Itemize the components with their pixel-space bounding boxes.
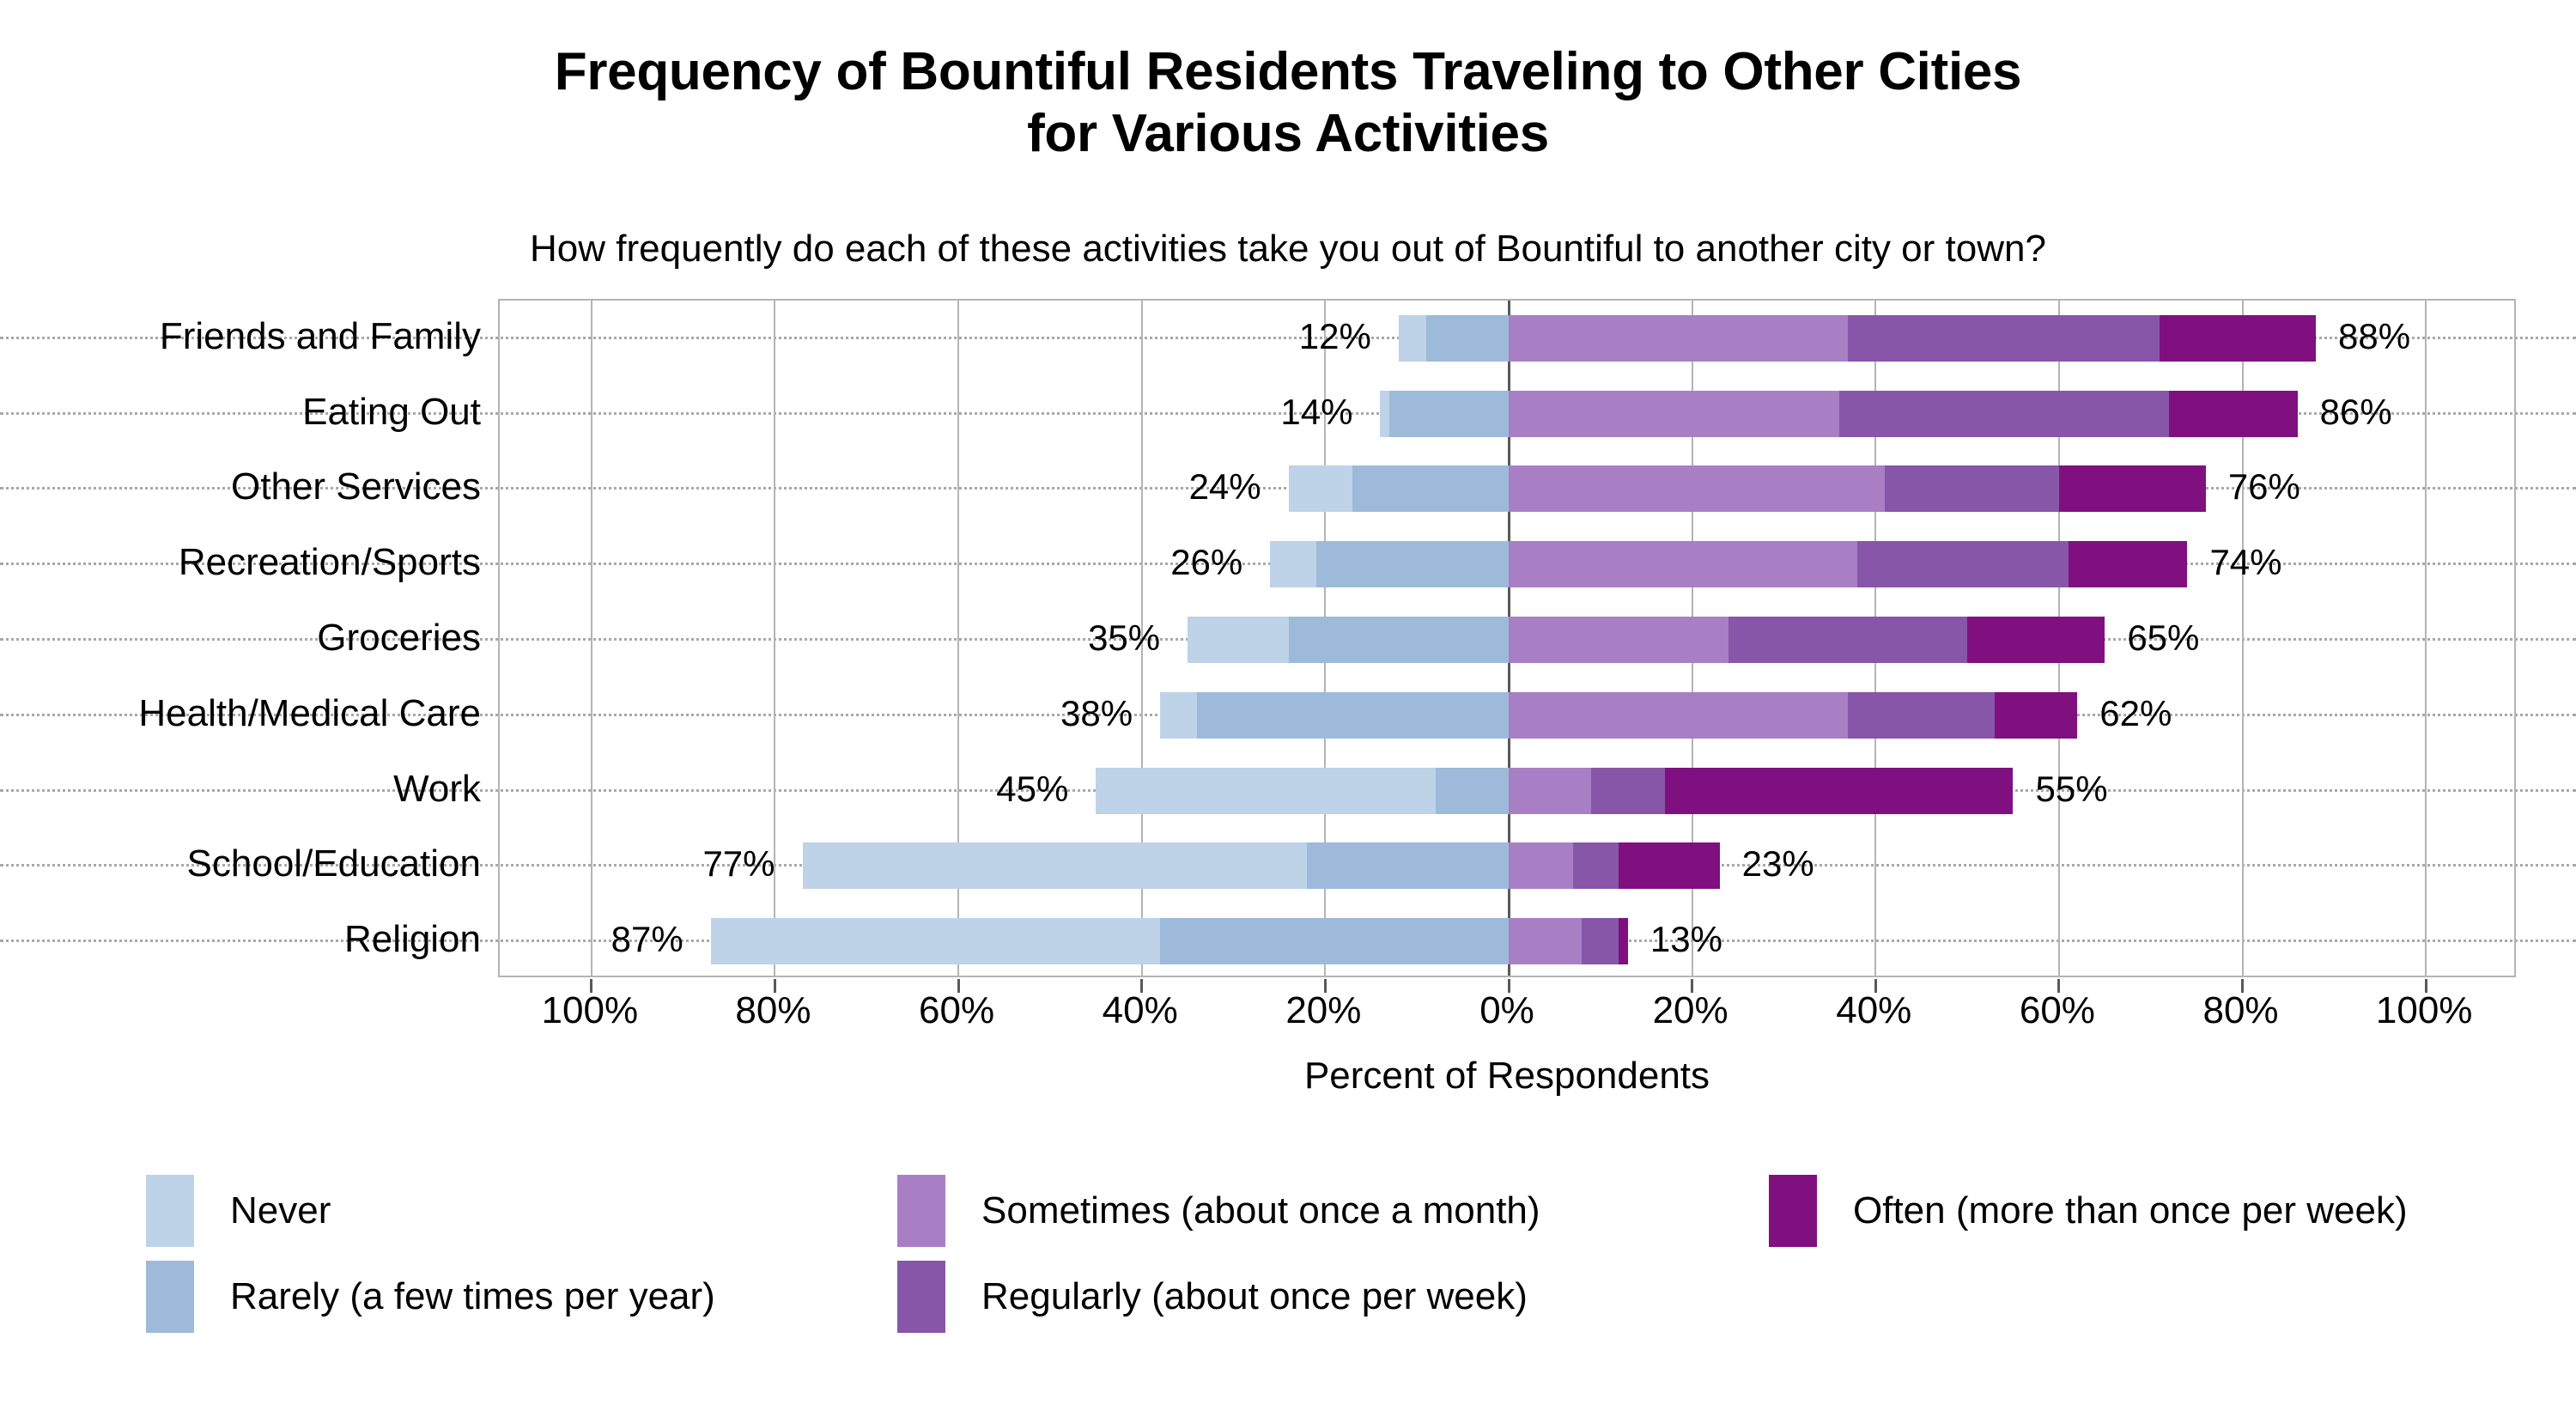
bar-segment-regularly — [1857, 541, 2069, 587]
chart-root: Frequency of Bountiful Residents Traveli… — [0, 0, 2576, 1417]
bar-label-right-total: 23% — [1742, 843, 1814, 885]
bar-segment-regularly — [1591, 768, 1664, 814]
bar-label-left-total: 45% — [996, 769, 1068, 810]
bar-segment-rarely — [1197, 692, 1509, 739]
category-label: Recreation/Sports — [179, 541, 481, 584]
legend-label: Never — [230, 1189, 331, 1232]
plot-area — [498, 299, 2516, 977]
legend-swatch — [897, 1175, 945, 1247]
bar-segment-regularly — [1839, 391, 2170, 437]
bar-label-right-total: 88% — [2338, 316, 2410, 357]
bar-label-left-total: 38% — [1060, 693, 1133, 734]
bar-segment-never — [803, 842, 1308, 889]
x-axis-title: Percent of Respondents — [498, 1055, 2516, 1098]
bar-segment-often — [2169, 391, 2298, 437]
bar-label-right-total: 86% — [2320, 392, 2392, 433]
legend-item[interactable]: Regularly (about once per week) — [897, 1261, 1528, 1333]
bar-segment-often — [1995, 692, 2077, 739]
category-label: Religion — [344, 918, 481, 961]
category-label: Friends and Family — [160, 315, 481, 358]
category-label: Groceries — [317, 617, 481, 660]
bar-segment-sometimes — [1509, 768, 1591, 814]
bar-label-left-total: 35% — [1088, 617, 1160, 659]
x-axis-tick-label: 80% — [735, 989, 811, 1032]
bar-segment-sometimes — [1509, 842, 1573, 889]
bar-label-left-total: 14% — [1280, 392, 1352, 433]
bar-segment-rarely — [1307, 842, 1509, 889]
legend-swatch — [1769, 1175, 1817, 1247]
chart-title-line-2: for Various Activities — [0, 103, 2576, 165]
bar-label-left-total: 12% — [1299, 316, 1371, 357]
category-label: School/Education — [187, 842, 481, 885]
bar-segment-never — [1270, 541, 1315, 587]
legend-label: Regularly (about once per week) — [981, 1275, 1528, 1318]
bar-segment-often — [2059, 465, 2206, 512]
bar-segment-rarely — [1352, 465, 1509, 512]
legend-swatch — [146, 1175, 194, 1247]
bar-label-left-total: 87% — [611, 919, 683, 960]
bar-label-right-total: 62% — [2099, 693, 2172, 734]
bar-segment-often — [1619, 918, 1628, 964]
bar-segment-regularly — [1582, 918, 1619, 964]
category-label: Other Services — [231, 465, 481, 508]
bar-segment-often — [2160, 315, 2316, 362]
bar-segment-regularly — [1848, 315, 2160, 362]
x-axis-tick-label: 60% — [919, 989, 994, 1032]
legend-item[interactable]: Never — [146, 1175, 331, 1247]
x-axis-tick-label: 0% — [1479, 989, 1534, 1032]
x-axis-tick-label: 100% — [542, 989, 639, 1032]
category-label: Health/Medical Care — [138, 692, 481, 735]
legend-swatch — [897, 1261, 945, 1333]
bar-segment-rarely — [1436, 768, 1509, 814]
bar-segment-sometimes — [1509, 692, 1848, 739]
bar-segment-often — [2069, 541, 2188, 587]
bar-segment-sometimes — [1509, 541, 1857, 587]
bar-segment-sometimes — [1509, 918, 1582, 964]
x-axis-tick-label: 60% — [2020, 989, 2095, 1032]
bar-segment-rarely — [1389, 391, 1509, 437]
bar-segment-sometimes — [1509, 465, 1885, 512]
legend-label: Rarely (a few times per year) — [230, 1275, 715, 1318]
x-axis-tick-label: 20% — [1285, 989, 1361, 1032]
bar-label-left-total: 24% — [1189, 466, 1261, 508]
bar-segment-never — [711, 918, 1160, 964]
bar-segment-never — [1160, 692, 1197, 739]
legend-item[interactable]: Rarely (a few times per year) — [146, 1261, 715, 1333]
x-axis-tick-label: 20% — [1653, 989, 1728, 1032]
bar-segment-often — [1619, 842, 1720, 889]
legend-swatch — [146, 1261, 194, 1333]
category-label: Work — [393, 768, 481, 811]
bar-segment-regularly — [1573, 842, 1619, 889]
bar-segment-never — [1096, 768, 1435, 814]
bar-segment-never — [1188, 617, 1289, 663]
bar-segment-rarely — [1289, 617, 1509, 663]
bar-label-left-total: 77% — [702, 843, 775, 885]
bar-segment-often — [1665, 768, 2014, 814]
bar-label-left-total: 26% — [1170, 542, 1242, 583]
category-label: Eating Out — [302, 391, 481, 434]
bar-label-right-total: 13% — [1650, 919, 1722, 960]
bar-segment-sometimes — [1509, 391, 1839, 437]
bar-segment-regularly — [1885, 465, 2059, 512]
bar-segment-rarely — [1426, 315, 1509, 362]
bar-segment-never — [1380, 391, 1389, 437]
legend-label: Often (more than once per week) — [1853, 1189, 2408, 1232]
bar-label-right-total: 74% — [2209, 542, 2281, 583]
x-axis-tick-label: 40% — [1836, 989, 1911, 1032]
chart-subtitle: How frequently do each of these activiti… — [0, 228, 2576, 271]
bar-segment-never — [1289, 465, 1353, 512]
bar-label-right-total: 76% — [2228, 466, 2300, 508]
gridline-vertical — [591, 301, 592, 976]
bar-label-right-total: 55% — [2036, 769, 2108, 810]
chart-title: Frequency of Bountiful Residents Traveli… — [0, 41, 2576, 165]
bar-segment-regularly — [1848, 692, 1995, 739]
bar-segment-often — [1967, 617, 2105, 663]
x-axis-tick-label: 100% — [2376, 989, 2473, 1032]
bar-segment-rarely — [1160, 918, 1509, 964]
bar-segment-sometimes — [1509, 315, 1848, 362]
bar-segment-sometimes — [1509, 617, 1728, 663]
bar-segment-rarely — [1316, 541, 1509, 587]
bar-label-right-total: 65% — [2127, 617, 2199, 659]
x-axis-tick-label: 80% — [2202, 989, 2278, 1032]
chart-title-line-1: Frequency of Bountiful Residents Traveli… — [555, 42, 2022, 101]
legend-item[interactable]: Sometimes (about once a month) — [897, 1175, 1540, 1247]
bar-segment-regularly — [1728, 617, 1967, 663]
legend-label: Sometimes (about once a month) — [981, 1189, 1540, 1232]
gridline-vertical — [2425, 301, 2427, 976]
legend-item[interactable]: Often (more than once per week) — [1769, 1175, 2408, 1247]
chart-legend: NeverSometimes (about once a month)Often… — [0, 1175, 2576, 1347]
x-axis-tick-label: 40% — [1103, 989, 1178, 1032]
bar-segment-never — [1399, 315, 1426, 362]
